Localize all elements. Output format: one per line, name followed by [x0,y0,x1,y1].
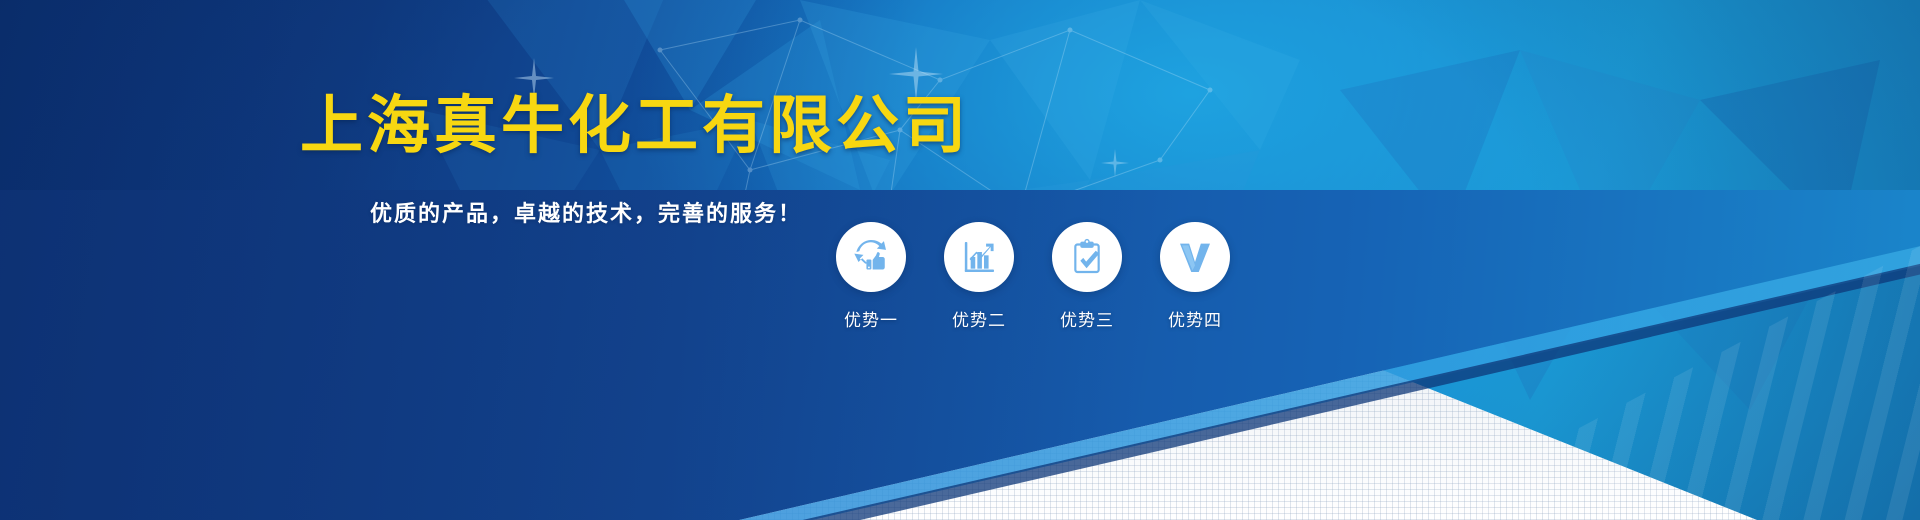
feature-icon-circle[interactable] [944,222,1014,292]
feature-icon-circle[interactable] [836,222,906,292]
company-slogan: 优质的产品，卓越的技术，完善的服务！ [370,196,802,228]
feature-item-2[interactable]: 优势二 [944,222,1014,331]
feature-icon-circle[interactable] [1160,222,1230,292]
feature-item-4[interactable]: 优势四 [1160,222,1230,331]
company-title: 上海真牛化工有限公司 [300,93,970,159]
feature-icon-circle[interactable] [1052,222,1122,292]
feature-label: 优势一 [844,306,898,331]
feature-label: 优势二 [952,306,1006,331]
feature-icon-row: 优势一 优势二 [836,222,1230,331]
feature-label: 优势三 [1060,306,1114,331]
feature-item-3[interactable]: 优势三 [1052,222,1122,331]
feature-item-1[interactable]: 优势一 [836,222,906,331]
refresh-thumbsup-icon [851,237,891,277]
bar-chart-growth-icon [959,237,999,277]
company-hero-banner: 上海真牛化工有限公司 优质的产品，卓越的技术，完善的服务！ 优势 [0,0,1920,520]
feature-label: 优势四 [1168,306,1222,331]
clipboard-check-icon [1067,237,1107,277]
banner-content: 上海真牛化工有限公司 优质的产品，卓越的技术，完善的服务！ 优势 [0,0,1920,520]
check-v-icon [1175,237,1215,277]
